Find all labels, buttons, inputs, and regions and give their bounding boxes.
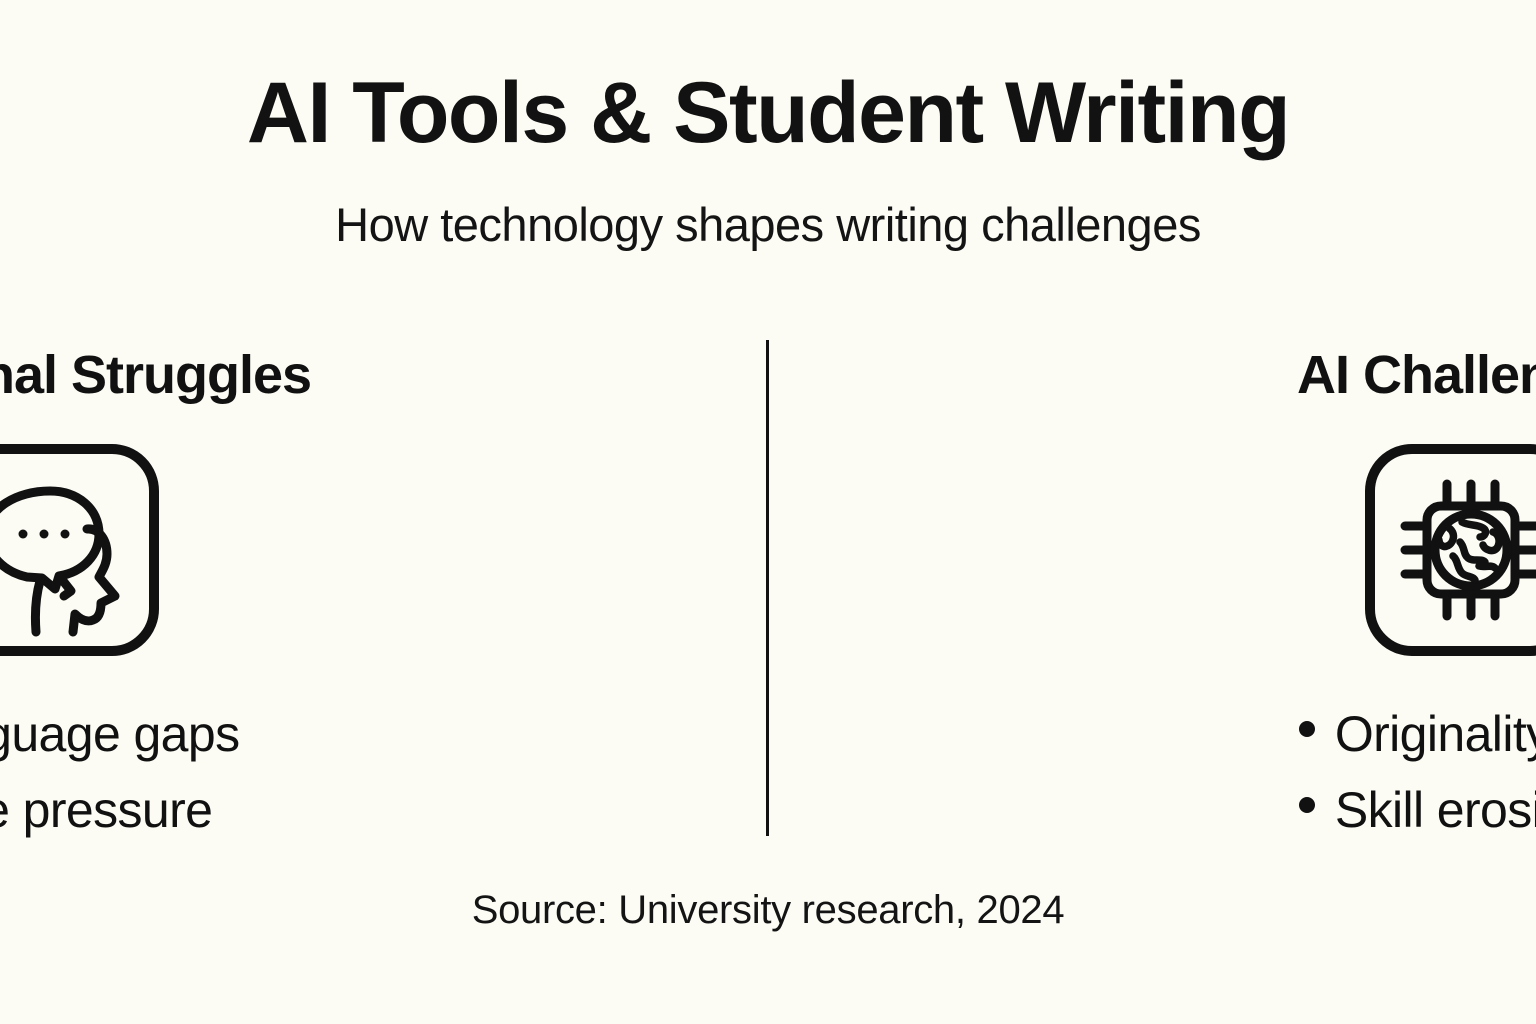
cpu-chip-globe-icon xyxy=(1365,444,1536,656)
bullet-label: Language gaps xyxy=(0,696,239,772)
bullet-list-ai: Originality risk Skill erosion xyxy=(1299,696,1536,848)
column-traditional-struggles: Traditional Struggles xyxy=(0,336,766,848)
bullet-label: Time pressure xyxy=(0,772,212,848)
list-item: Language gaps xyxy=(0,696,239,772)
bullet-label: Skill erosion xyxy=(1335,772,1536,848)
footer: Source: University research, 2024 xyxy=(0,888,1536,933)
speech-bubble-head-profile-icon xyxy=(0,444,159,656)
list-item: Skill erosion xyxy=(1299,772,1536,848)
column-heading-ai: AI Challenges xyxy=(1297,348,1536,402)
comparison-columns: Traditional Struggles xyxy=(0,336,1536,836)
page-title: AI Tools & Student Writing xyxy=(0,70,1536,156)
bullet-label: Originality risk xyxy=(1335,696,1536,772)
bullet-dot-icon xyxy=(1299,721,1315,737)
source-attribution: Source: University research, 2024 xyxy=(0,888,1536,933)
bullet-dot-icon xyxy=(1299,797,1315,813)
list-item: Originality risk xyxy=(1299,696,1536,772)
bullet-list-traditional: Language gaps Time pressure xyxy=(0,696,239,848)
page-subtitle: How technology shapes writing challenges xyxy=(0,201,1536,248)
column-ai-challenges: AI Challenges xyxy=(766,336,1532,848)
list-item: Time pressure xyxy=(0,772,239,848)
column-heading-traditional: Traditional Struggles xyxy=(0,348,311,402)
header: AI Tools & Student Writing How technolog… xyxy=(0,70,1536,248)
infographic-canvas: AI Tools & Student Writing How technolog… xyxy=(0,0,1536,1024)
